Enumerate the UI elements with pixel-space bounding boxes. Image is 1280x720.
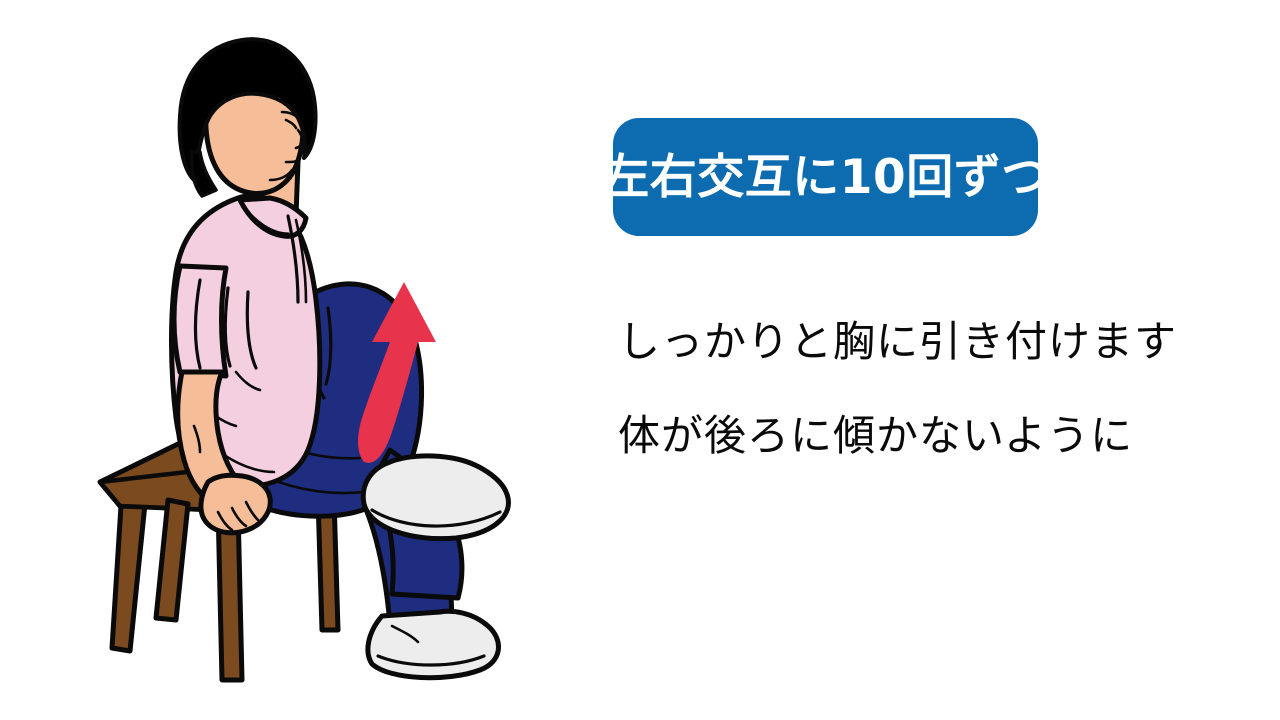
- instruction-note-1: しっかりと胸に引き付けます: [618, 320, 1238, 364]
- instruction-notes: しっかりと胸に引き付けます 体が後ろに傾かないように: [618, 320, 1238, 458]
- chair-leg-front-left: [156, 500, 188, 620]
- chair-leg-rear-left: [112, 490, 146, 651]
- hand-on-chair-seat: [201, 475, 270, 533]
- instruction-note-2: 体が後ろに傾かないように: [618, 414, 1238, 458]
- repetition-badge: 左右交互に10回ずつ: [613, 118, 1038, 236]
- repetition-badge-label: 左右交互に10回ずつ: [602, 154, 1048, 201]
- head-group: [180, 39, 316, 196]
- exercise-illustration: .ol { stroke:#0a0a0a; stroke-width:5; st…: [60, 20, 580, 700]
- lower-shoe: [368, 611, 499, 677]
- content-column: 左右交互に10回ずつ しっかりと胸に引き付けます 体が後ろに傾かないように: [600, 0, 1260, 720]
- slide-canvas: .ol { stroke:#0a0a0a; stroke-width:5; st…: [0, 0, 1280, 720]
